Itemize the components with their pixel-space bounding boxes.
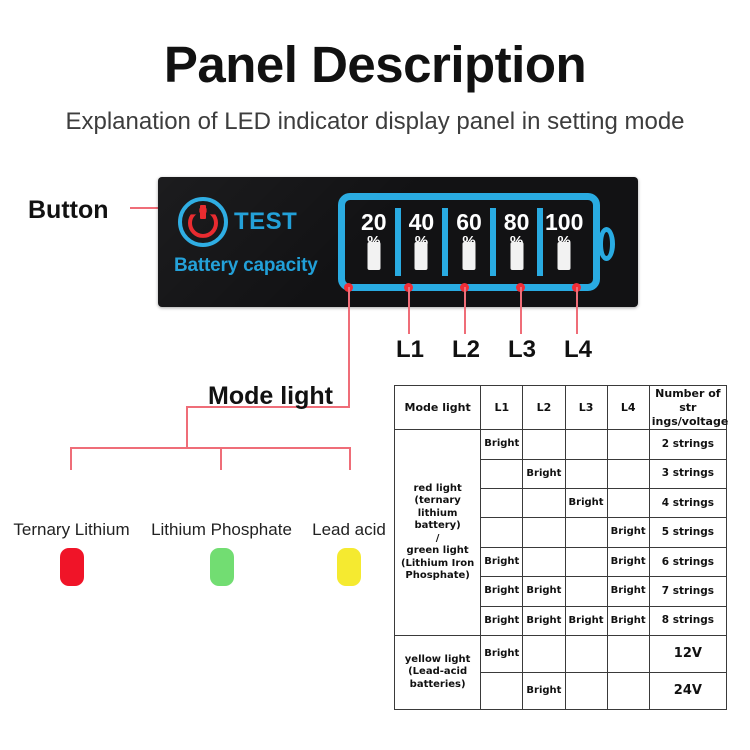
spec-table: Mode light L1 L2 L3 L4 Number of str ing… <box>394 385 727 710</box>
segment-value: 100 <box>545 211 583 234</box>
battery-graphic: 20 % 40 % 60 % 80 <box>338 193 614 291</box>
led-label-l2: L2 <box>452 336 480 364</box>
mode-cell-red-green: red light (ternary lithium battery) / gr… <box>395 430 481 636</box>
segment-value: 20 <box>361 211 387 234</box>
cell-l2 <box>523 430 565 459</box>
cell-l4 <box>607 489 649 518</box>
cell-l3: Bright <box>565 606 607 635</box>
cell-l2 <box>523 489 565 518</box>
cell-l2: Bright <box>523 577 565 606</box>
mode-light-stem-top <box>348 287 350 407</box>
cell-result: 3 strings <box>649 459 726 488</box>
battery-capacity-label: Battery capacity <box>174 255 318 277</box>
led-leader-line-l2 <box>464 287 466 334</box>
led-indicator-l4 <box>510 242 523 270</box>
battery-segment: 80 % <box>496 208 544 276</box>
table-row: yellow light (Lead-acid batteries) Brigh… <box>395 636 727 673</box>
cell-l1 <box>481 673 523 710</box>
power-icon-bar <box>200 205 206 219</box>
mode-line: red light <box>413 483 461 494</box>
header-l4: L4 <box>607 386 649 430</box>
led-leader-line-l4 <box>576 287 578 334</box>
header-l1: L1 <box>481 386 523 430</box>
mode-option-ternary-lithium: Ternary Lithium <box>0 520 143 586</box>
mode-cell-yellow: yellow light (Lead-acid batteries) <box>395 636 481 710</box>
header-number-line2: ings/voltage <box>652 415 729 428</box>
button-callout-label: Button <box>28 196 109 225</box>
cell-l4: Bright <box>607 577 649 606</box>
cell-result: 5 strings <box>649 518 726 547</box>
led-label-l3: L3 <box>508 336 536 364</box>
mode-line: / <box>436 533 440 544</box>
cell-result: 2 strings <box>649 430 726 459</box>
mode-line: battery) <box>414 520 460 531</box>
test-label: TEST <box>234 208 297 236</box>
header-number-line1: Number of str <box>655 387 720 414</box>
battery-terminal-cap <box>598 227 615 261</box>
cell-l1: Bright <box>481 636 523 673</box>
cell-l3 <box>565 459 607 488</box>
cell-l2: Bright <box>523 459 565 488</box>
table-row: red light (ternary lithium battery) / gr… <box>395 430 727 459</box>
page-title: Panel Description <box>0 38 750 92</box>
led-indicator-l5 <box>558 242 571 270</box>
mode-light-branch-3 <box>349 447 351 470</box>
cell-l3 <box>565 673 607 710</box>
cell-l2 <box>523 636 565 673</box>
segment-value: 40 <box>409 211 435 234</box>
led-indicator-l1 <box>367 242 380 270</box>
cell-l3 <box>565 577 607 606</box>
mode-option-label: Lead acid <box>300 520 398 540</box>
cell-l3 <box>565 430 607 459</box>
mode-swatch-red <box>60 548 84 586</box>
header-l2: L2 <box>523 386 565 430</box>
mode-option-label: Ternary Lithium <box>0 520 143 540</box>
cell-l4 <box>607 459 649 488</box>
cell-l4: Bright <box>607 606 649 635</box>
led-indicator-panel: TEST Battery capacity 20 % 40 % <box>158 177 638 307</box>
battery-body: 20 % 40 % 60 % 80 <box>338 193 600 291</box>
cell-result: 24V <box>649 673 726 710</box>
cell-l4: Bright <box>607 518 649 547</box>
led-leader-line-l3 <box>520 287 522 334</box>
cell-result: 8 strings <box>649 606 726 635</box>
mode-light-branch-1 <box>70 447 72 470</box>
mode-swatch-green <box>210 548 234 586</box>
cell-l4 <box>607 636 649 673</box>
led-label-l4: L4 <box>564 336 592 364</box>
page-subtitle: Explanation of LED indicator display pan… <box>0 108 750 136</box>
cell-l4: Bright <box>607 547 649 576</box>
cell-l3 <box>565 518 607 547</box>
segment-value: 80 <box>504 211 530 234</box>
mode-line: (ternary lithium <box>414 495 460 519</box>
battery-segments: 20 % 40 % 60 % 80 <box>353 208 585 276</box>
cell-result: 7 strings <box>649 577 726 606</box>
mode-line: Phosphate) <box>405 570 469 581</box>
mode-light-branch-bar <box>70 447 350 449</box>
header-number-of-strings: Number of str ings/voltage <box>649 386 726 430</box>
mode-option-lithium-phosphate: Lithium Phosphate <box>145 520 298 586</box>
mode-line: green light <box>407 545 469 556</box>
battery-segment: 60 % <box>448 208 496 276</box>
cell-l1 <box>481 489 523 518</box>
battery-segment: 100 % <box>543 208 585 276</box>
header-l3: L3 <box>565 386 607 430</box>
battery-segment: 40 % <box>401 208 449 276</box>
table-header-row: Mode light L1 L2 L3 L4 Number of str ing… <box>395 386 727 430</box>
cell-l1 <box>481 459 523 488</box>
cell-l1: Bright <box>481 606 523 635</box>
mode-light-branch-2 <box>220 447 222 470</box>
cell-l3 <box>565 547 607 576</box>
page-root: Panel Description Explanation of LED ind… <box>0 0 750 750</box>
cell-result: 4 strings <box>649 489 726 518</box>
mode-line: (Lithium Iron <box>401 558 474 569</box>
cell-l1: Bright <box>481 547 523 576</box>
power-button[interactable] <box>178 197 228 247</box>
mode-option-label: Lithium Phosphate <box>145 520 298 540</box>
mode-swatch-yellow <box>337 548 361 586</box>
segment-value: 60 <box>456 211 482 234</box>
battery-segment: 20 % <box>353 208 401 276</box>
cell-l1: Bright <box>481 430 523 459</box>
mode-line: batteries) <box>410 679 466 690</box>
mode-line: yellow light <box>405 654 471 665</box>
cell-l3 <box>565 636 607 673</box>
cell-result: 12V <box>649 636 726 673</box>
led-indicator-l3 <box>462 242 475 270</box>
cell-l3: Bright <box>565 489 607 518</box>
cell-l1: Bright <box>481 577 523 606</box>
mode-light-stem-down <box>186 406 188 448</box>
header-mode-light: Mode light <box>395 386 481 430</box>
cell-l2: Bright <box>523 606 565 635</box>
mode-line: (Lead-acid <box>408 666 467 677</box>
mode-light-title: Mode light <box>208 382 333 411</box>
cell-l2: Bright <box>523 673 565 710</box>
led-indicator-l2 <box>415 242 428 270</box>
cell-l4 <box>607 430 649 459</box>
cell-l4 <box>607 673 649 710</box>
led-label-l1: L1 <box>396 336 424 364</box>
led-leader-line-l1 <box>408 287 410 334</box>
cell-l1 <box>481 518 523 547</box>
mode-option-lead-acid: Lead acid <box>300 520 398 586</box>
cell-l2 <box>523 547 565 576</box>
cell-result: 6 strings <box>649 547 726 576</box>
spec-table-wrapper: Mode light L1 L2 L3 L4 Number of str ing… <box>394 385 727 710</box>
cell-l2 <box>523 518 565 547</box>
